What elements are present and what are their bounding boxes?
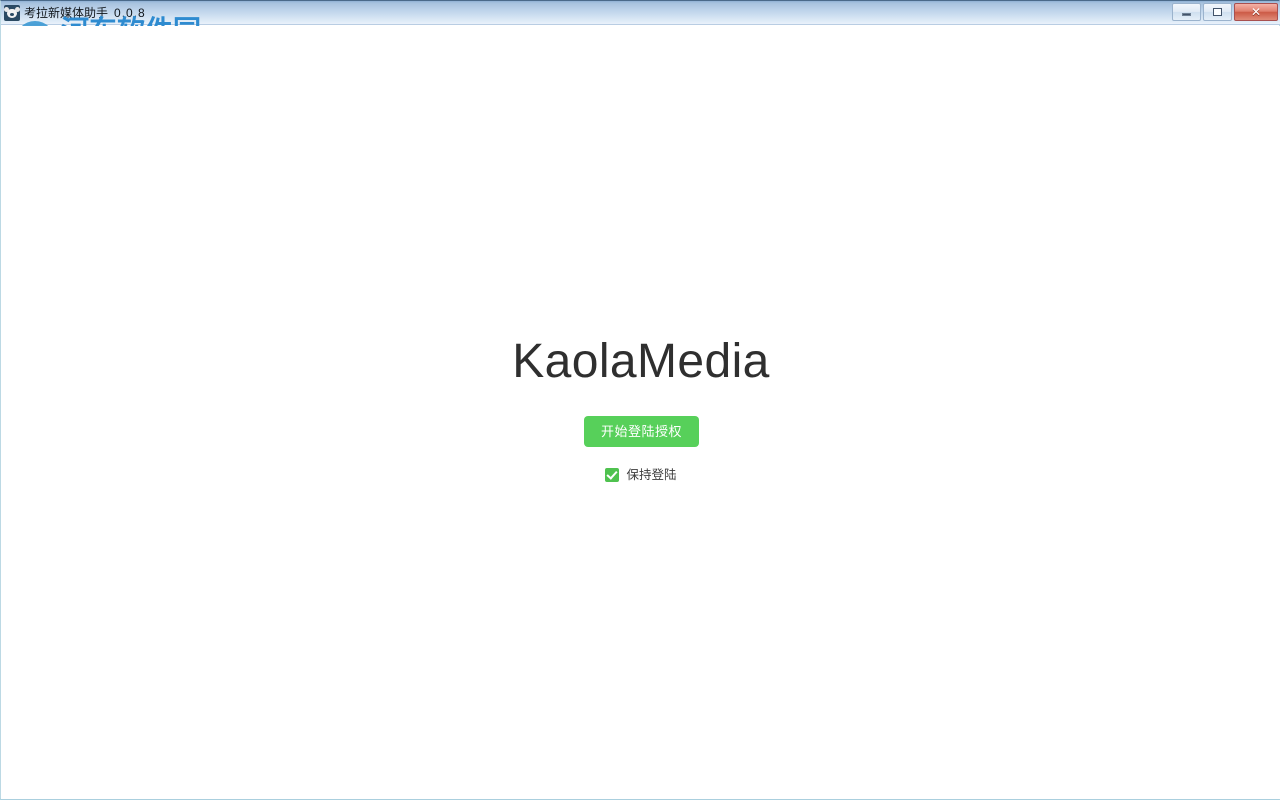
keep-login-row: 保持登陆 <box>1 467 1280 483</box>
page-title: KaolaMedia <box>1 333 1280 391</box>
close-icon: ✕ <box>1251 6 1261 18</box>
keep-login-checkbox[interactable] <box>605 468 619 482</box>
window-version: 0.0.8 <box>114 6 146 20</box>
keep-login-label[interactable]: 保持登陆 <box>626 467 676 483</box>
maximize-icon <box>1213 8 1222 16</box>
window-controls: ✕ <box>1172 3 1278 21</box>
koala-icon <box>4 5 20 21</box>
main-content: KaolaMedia 开始登陆授权 保持登陆 <box>1 26 1280 799</box>
minimize-button[interactable] <box>1172 3 1201 21</box>
application-window: 考拉新媒体助手 0.0.8 ✕ 河东软件园 www.pc0359.cn Kaol… <box>0 0 1280 800</box>
title-bar[interactable]: 考拉新媒体助手 0.0.8 ✕ <box>1 1 1280 25</box>
minimize-icon <box>1182 13 1191 16</box>
window-title: 考拉新媒体助手 <box>24 6 108 20</box>
close-button[interactable]: ✕ <box>1234 3 1278 21</box>
start-login-authorization-button[interactable]: 开始登陆授权 <box>584 416 699 447</box>
koala-nose-icon <box>10 13 14 16</box>
maximize-button[interactable] <box>1203 3 1232 21</box>
